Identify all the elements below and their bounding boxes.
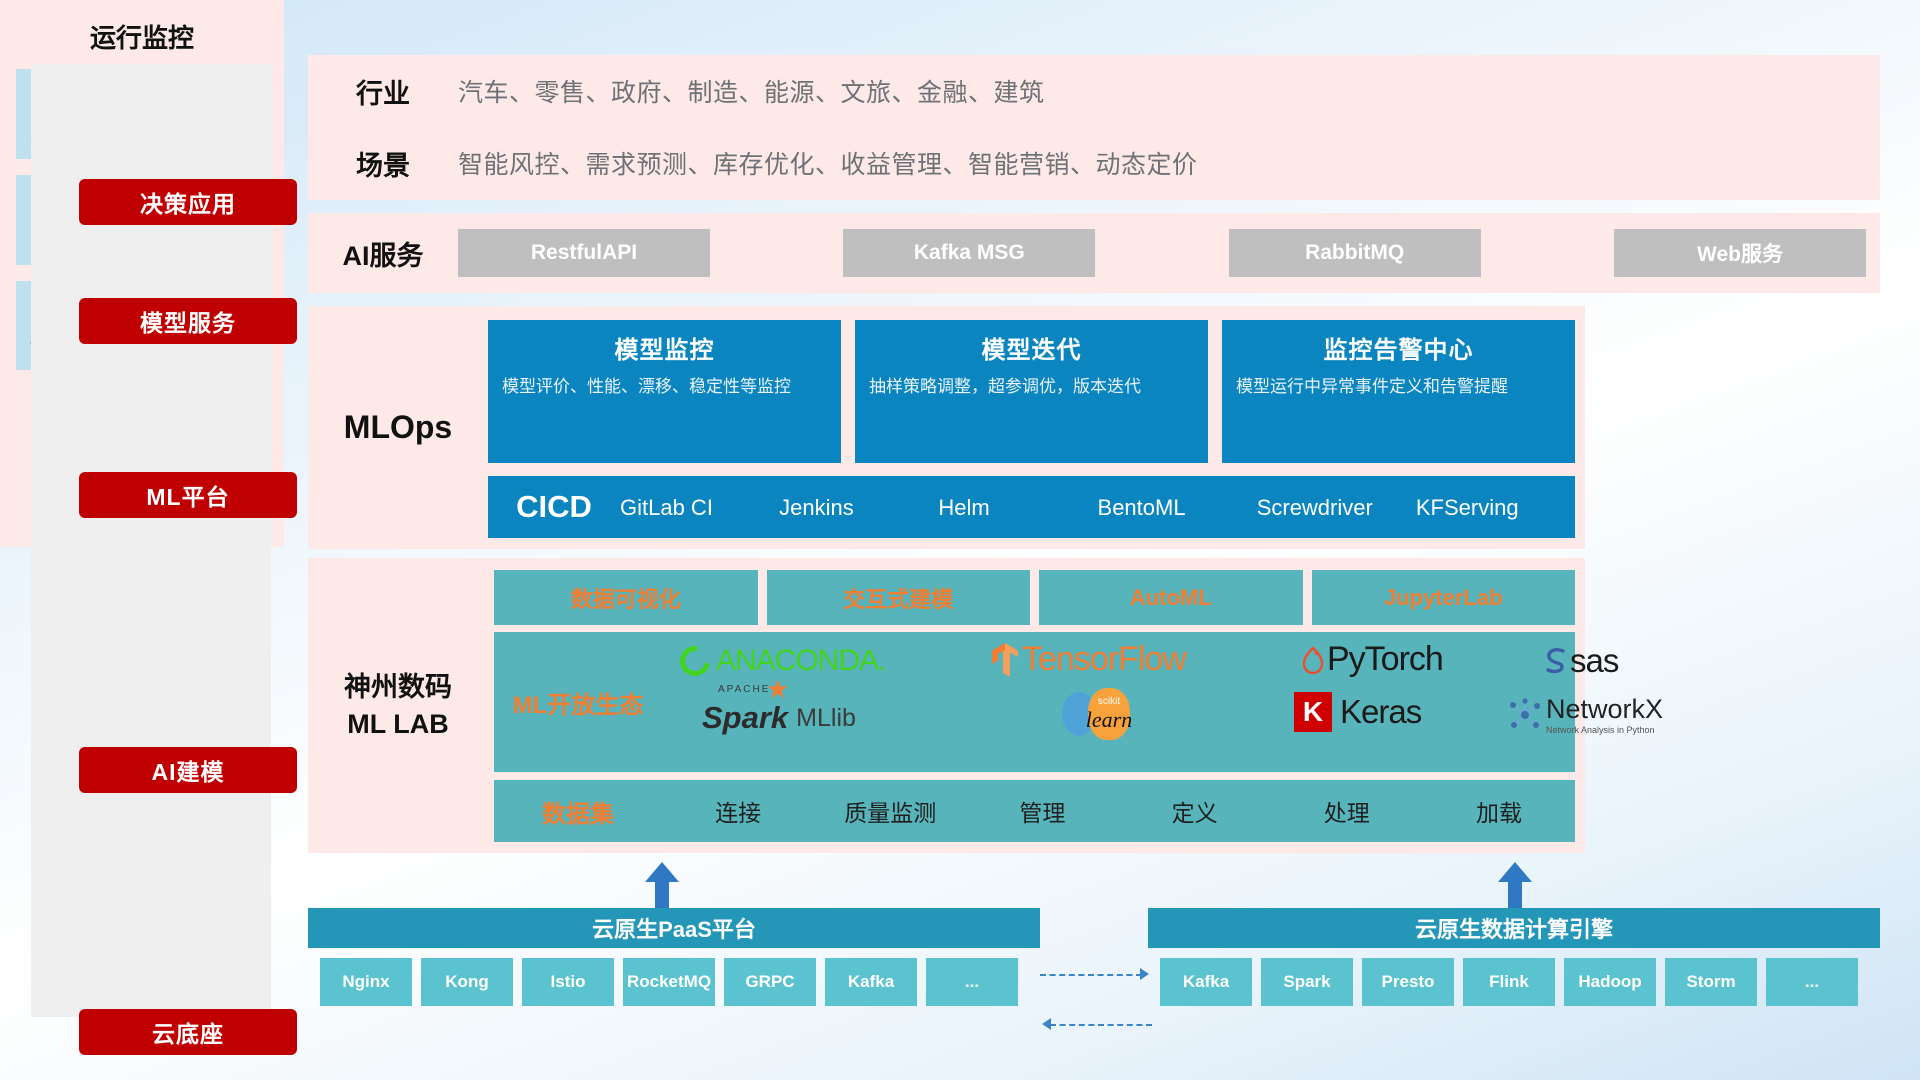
decision-apps-band: 行业 汽车、零售、政府、制造、能源、文旅、金融、建筑 场景 智能风控、需求预测、… xyxy=(308,55,1880,200)
paas-chip[interactable]: Kafka xyxy=(825,958,917,1006)
paas-chip-more[interactable]: ... xyxy=(926,958,1018,1006)
pytorch-text: PyTorch xyxy=(1327,640,1443,679)
rail-label: 云底座 xyxy=(152,1015,224,1049)
dataset-label: 数据集 xyxy=(494,794,662,829)
dataset-item[interactable]: 连接 xyxy=(662,794,814,828)
spark-wordmark: APACHE ★ Spark xyxy=(702,700,788,736)
tensorflow-text: TensorFlow xyxy=(1022,640,1186,679)
anaconda-text: ANACONDA. xyxy=(716,644,885,678)
tensorflow-mark-icon xyxy=(992,643,1018,677)
ai-service-key: AI服务 xyxy=(308,234,458,273)
keras-mark-text: K xyxy=(1303,696,1323,728)
ai-service-band: AI服务 RestfulAPI Kafka MSG RabbitMQ Web服务 xyxy=(308,213,1880,293)
card-title: 模型迭代 xyxy=(869,330,1194,365)
cicd-item[interactable]: GitLab CI xyxy=(620,495,779,519)
connector-line-left xyxy=(1050,1024,1152,1026)
spark-apache-text: APACHE xyxy=(718,684,770,695)
cloud-paas-title: 云原生PaaS平台 xyxy=(592,912,756,944)
paas-chip[interactable]: RocketMQ xyxy=(623,958,715,1006)
keras-mark-icon: K xyxy=(1294,692,1332,732)
cicd-item[interactable]: Jenkins xyxy=(779,495,938,519)
rail-label: ML平台 xyxy=(146,478,229,512)
data-chip[interactable]: Kafka xyxy=(1160,958,1252,1006)
mlops-card-model-monitoring[interactable]: 模型监控 模型评价、性能、漂移、稳定性等监控 xyxy=(488,320,841,463)
connector-arrowhead-right-icon xyxy=(1140,968,1149,980)
upward-arrow-data-engine xyxy=(1498,862,1532,908)
rail-item-ai-modeling[interactable]: AI建模 xyxy=(79,747,297,793)
tab-data-visualization[interactable]: 数据可视化 xyxy=(494,570,758,625)
spark-mllib-logo: APACHE ★ Spark MLlib xyxy=(702,700,856,736)
ml-lab-key: 神州数码 ML LAB xyxy=(308,558,488,853)
cloud-paas-header[interactable]: 云原生PaaS平台 xyxy=(308,908,1040,948)
rail-label: AI建模 xyxy=(152,753,225,787)
cicd-item-list: GitLab CI Jenkins Helm BentoML Screwdriv… xyxy=(620,495,1575,519)
paas-chip-list: Nginx Kong Istio RocketMQ GRPC Kafka ... xyxy=(320,958,1018,1006)
scikit-orange-blob-icon: scikit learn xyxy=(1088,688,1130,740)
keras-text: Keras xyxy=(1340,693,1421,731)
sas-text: sas xyxy=(1570,642,1618,680)
card-desc: 模型运行中异常事件定义和告警提醒 xyxy=(1236,375,1561,400)
scene-row: 场景 智能风控、需求预测、库存优化、收益管理、智能营销、动态定价 xyxy=(308,127,1880,199)
cicd-item[interactable]: BentoML xyxy=(1098,495,1257,519)
cicd-item[interactable]: Helm xyxy=(938,495,1097,519)
mlops-card-model-iteration[interactable]: 模型迭代 抽样策略调整，超参调优，版本迭代 xyxy=(855,320,1208,463)
paas-chip[interactable]: Istio xyxy=(522,958,614,1006)
paas-chip[interactable]: Nginx xyxy=(320,958,412,1006)
mlops-band: MLOps 模型监控 模型评价、性能、漂移、稳定性等监控 模型迭代 抽样策略调整… xyxy=(308,306,1585,549)
cicd-title: CICD xyxy=(488,489,620,525)
cloud-data-title: 云原生数据计算引擎 xyxy=(1415,912,1613,944)
networkx-graph-icon xyxy=(1508,698,1542,732)
industry-key: 行业 xyxy=(308,72,458,111)
cicd-bar: CICD GitLab CI Jenkins Helm BentoML Scre… xyxy=(488,476,1575,538)
rail-item-decision-apps[interactable]: 决策应用 xyxy=(79,179,297,225)
tensorflow-logo: TensorFlow xyxy=(992,640,1186,679)
eco-label: ML开放生态 xyxy=(494,685,662,720)
data-chip[interactable]: Spark xyxy=(1261,958,1353,1006)
ml-open-ecosystem: ML开放生态 ANACONDA. TensorFlow xyxy=(494,632,1575,772)
data-chip[interactable]: Presto xyxy=(1362,958,1454,1006)
paas-chip[interactable]: GRPC xyxy=(724,958,816,1006)
dataset-item[interactable]: 定义 xyxy=(1119,794,1271,828)
mllib-text: MLlib xyxy=(796,704,856,733)
upward-arrow-paas xyxy=(645,862,679,908)
anaconda-ring-icon xyxy=(674,640,716,682)
ml-lab-tab-list: 数据可视化 交互式建模 AutoML JupyterLab xyxy=(494,570,1575,625)
dataset-item[interactable]: 加载 xyxy=(1423,794,1575,828)
scene-value: 智能风控、需求预测、库存优化、收益管理、智能营销、动态定价 xyxy=(458,145,1198,181)
keras-logo: K Keras xyxy=(1294,692,1421,732)
card-desc: 抽样策略调整，超参调优，版本迭代 xyxy=(869,375,1194,400)
cloud-data-engine-header[interactable]: 云原生数据计算引擎 xyxy=(1148,908,1880,948)
rail-item-cloud-base[interactable]: 云底座 xyxy=(79,1009,297,1055)
rail-label: 模型服务 xyxy=(140,304,236,338)
mlops-card-list: 模型监控 模型评价、性能、漂移、稳定性等监控 模型迭代 抽样策略调整，超参调优，… xyxy=(488,320,1575,463)
card-title: 监控告警中心 xyxy=(1236,330,1561,365)
dataset-item[interactable]: 管理 xyxy=(966,794,1118,828)
layer-rail: 决策应用 模型服务 ML平台 AI建模 云底座 xyxy=(31,64,271,1017)
connector-line-right xyxy=(1040,974,1142,976)
monitor-title: 运行监控 xyxy=(0,0,284,69)
sas-logo: sas xyxy=(1542,642,1618,680)
ai-service-chip[interactable]: RestfulAPI xyxy=(458,229,710,277)
ai-service-chip[interactable]: Kafka MSG xyxy=(843,229,1095,277)
rail-item-model-service[interactable]: 模型服务 xyxy=(79,298,297,344)
tab-jupyterlab[interactable]: JupyterLab xyxy=(1312,570,1576,625)
arrow-shaft xyxy=(1508,878,1522,908)
anaconda-logo: ANACONDA. xyxy=(680,644,885,678)
data-engine-chip-list: Kafka Spark Presto Flink Hadoop Storm ..… xyxy=(1160,958,1858,1006)
mlops-key: MLOps xyxy=(308,306,488,549)
scikit-bottom-text: learn xyxy=(1086,707,1132,733)
card-title: 模型监控 xyxy=(502,330,827,365)
dataset-row: 数据集 连接 质量监测 管理 定义 处理 加载 xyxy=(494,780,1575,842)
card-desc: 模型评价、性能、漂移、稳定性等监控 xyxy=(502,375,827,400)
scikit-top-text: scikit xyxy=(1098,696,1120,707)
paas-data-connector xyxy=(1040,958,1152,1046)
pytorch-logo: PyTorch xyxy=(1302,640,1443,679)
spark-text: Spark xyxy=(702,700,788,735)
tab-automl[interactable]: AutoML xyxy=(1039,570,1303,625)
rail-label: 决策应用 xyxy=(140,185,236,219)
cicd-item[interactable]: KFServing xyxy=(1416,495,1575,519)
data-chip-more[interactable]: ... xyxy=(1766,958,1858,1006)
cicd-item[interactable]: Screwdriver xyxy=(1257,495,1416,519)
ml-lab-key-line1: 神州数码 xyxy=(344,669,452,705)
sas-swirl-icon xyxy=(1542,646,1570,676)
eco-logo-area: ANACONDA. TensorFlow PyTorch xyxy=(662,632,1575,772)
connector-arrowhead-left-icon xyxy=(1042,1018,1051,1030)
ml-lab-band: 神州数码 ML LAB 数据可视化 交互式建模 AutoML JupyterLa… xyxy=(308,558,1585,853)
dataset-item[interactable]: 质量监测 xyxy=(814,794,966,828)
mlops-card-alert-center[interactable]: 监控告警中心 模型运行中异常事件定义和告警提醒 xyxy=(1222,320,1575,463)
scikit-learn-logo: scikit learn xyxy=(1062,688,1130,740)
ai-service-chip[interactable]: Web服务 xyxy=(1614,229,1866,277)
ml-lab-key-line2: ML LAB xyxy=(347,706,449,742)
spark-star-icon: ★ xyxy=(766,674,789,705)
pytorch-flame-icon xyxy=(1302,646,1324,674)
industry-row: 行业 汽车、零售、政府、制造、能源、文旅、金融、建筑 xyxy=(308,55,1880,127)
data-chip[interactable]: Flink xyxy=(1463,958,1555,1006)
paas-chip[interactable]: Kong xyxy=(421,958,513,1006)
dataset-item-list: 连接 质量监测 管理 定义 处理 加载 xyxy=(662,794,1575,828)
data-chip[interactable]: Hadoop xyxy=(1564,958,1656,1006)
networkx-sub-text: Network Analysis in Python xyxy=(1546,725,1663,735)
networkx-logo: NetworkX Network Analysis in Python xyxy=(1508,694,1663,735)
architecture-diagram: 决策应用 模型服务 ML平台 AI建模 云底座 行业 汽车、零售、政府、制造、能… xyxy=(0,0,1920,1080)
rail-item-ml-platform[interactable]: ML平台 xyxy=(79,472,297,518)
scene-key: 场景 xyxy=(308,144,458,183)
industry-value: 汽车、零售、政府、制造、能源、文旅、金融、建筑 xyxy=(458,73,1045,109)
networkx-text: NetworkX xyxy=(1546,694,1663,725)
data-chip[interactable]: Storm xyxy=(1665,958,1757,1006)
tab-interactive-modeling[interactable]: 交互式建模 xyxy=(767,570,1031,625)
ai-service-chip-list: RestfulAPI Kafka MSG RabbitMQ Web服务 xyxy=(458,229,1880,277)
arrow-shaft xyxy=(655,878,669,908)
ai-service-chip[interactable]: RabbitMQ xyxy=(1229,229,1481,277)
dataset-item[interactable]: 处理 xyxy=(1271,794,1423,828)
